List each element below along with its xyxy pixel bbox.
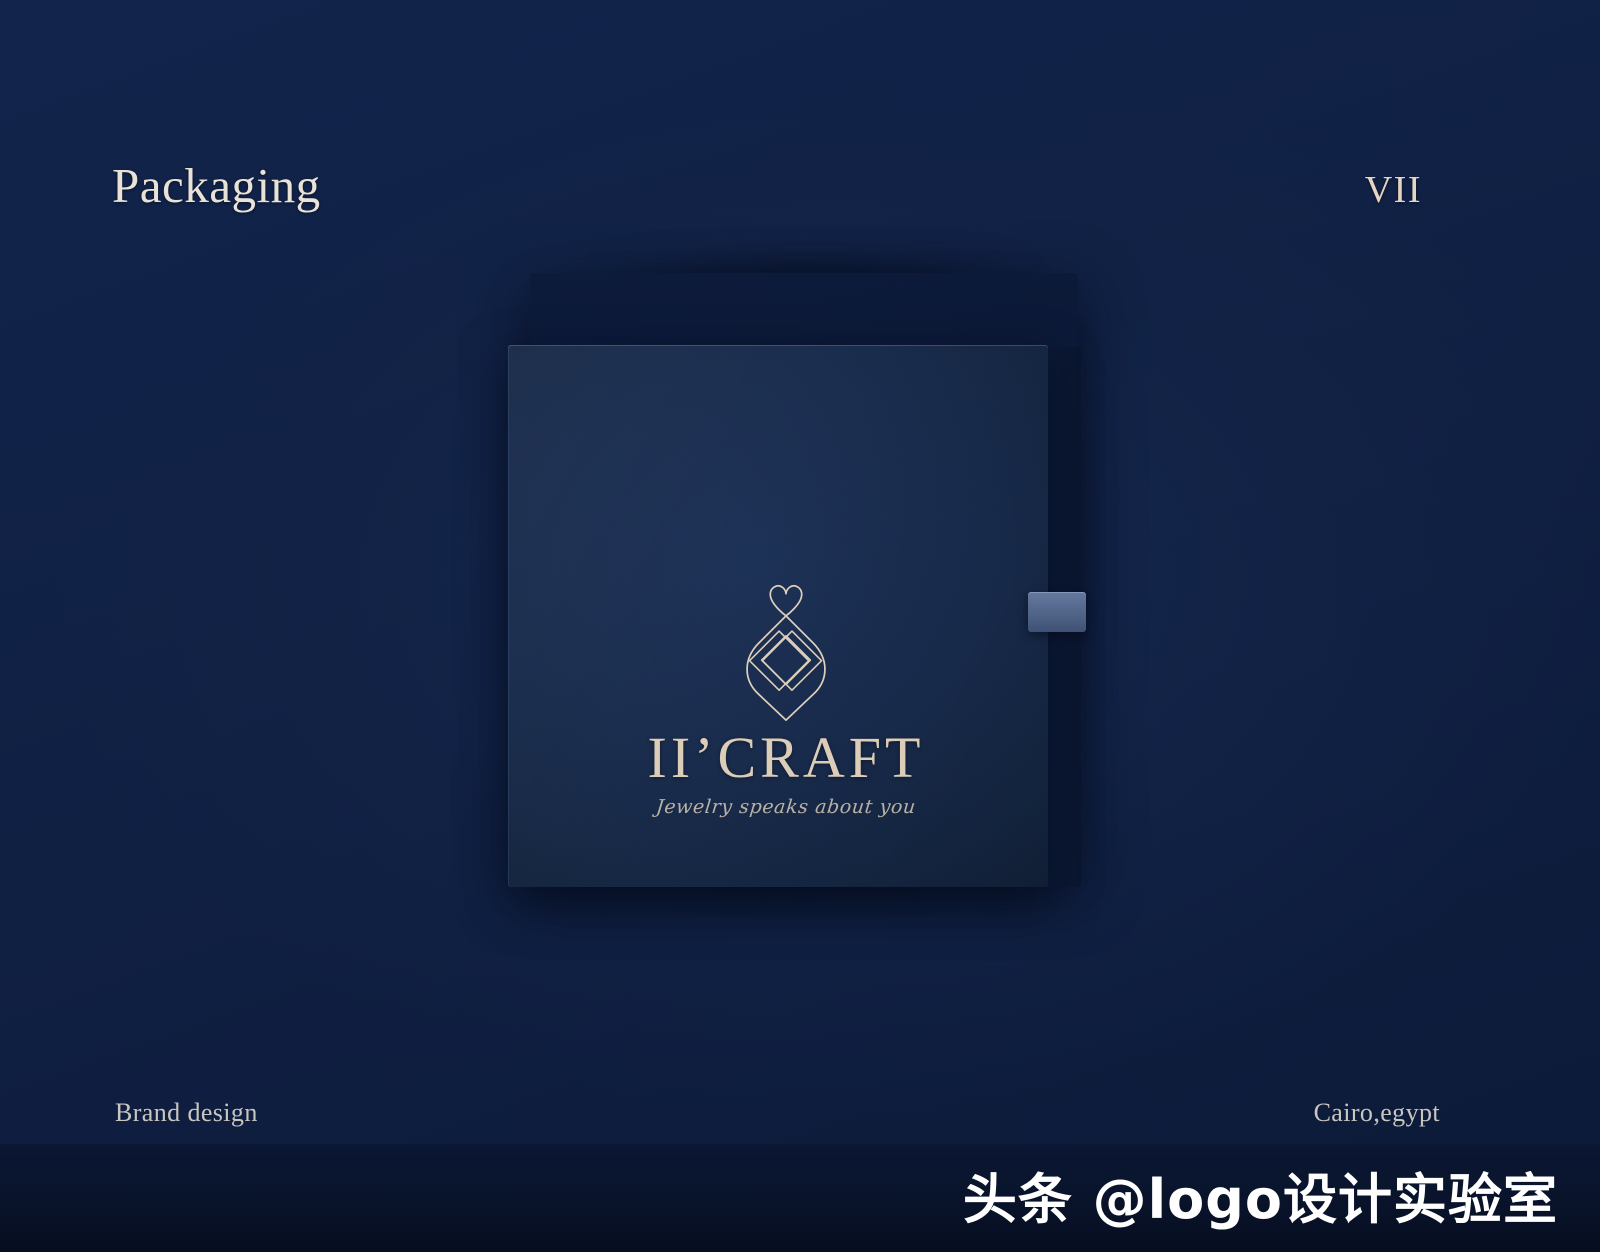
section-number: VII <box>1365 168 1422 212</box>
watermark-label: 头条 @logo设计实验室 <box>963 1155 1558 1234</box>
packaging-mockup: II’CRAFT Jewelry speaks about you <box>500 255 1100 905</box>
box-front-face: II’CRAFT Jewelry speaks about you <box>508 345 1048 887</box>
logo-wordmark: II’CRAFT <box>508 729 1064 787</box>
box-ribbon-clasp <box>1028 592 1086 632</box>
watermark-bar: 头条 @logo设计实验室 <box>0 1144 1600 1252</box>
footer-left-label: Brand design <box>115 1098 258 1128</box>
interlocking-diamonds-heart-icon <box>711 573 861 723</box>
footer-right-label: Cairo,egypt <box>1314 1098 1440 1128</box>
logo-tagline: Jewelry speaks about you <box>507 796 1065 818</box>
page-title: Packaging <box>112 157 321 214</box>
slide-canvas: Packaging VII I <box>0 0 1600 1252</box>
logo-lockup: II’CRAFT Jewelry speaks about you <box>508 573 1064 818</box>
